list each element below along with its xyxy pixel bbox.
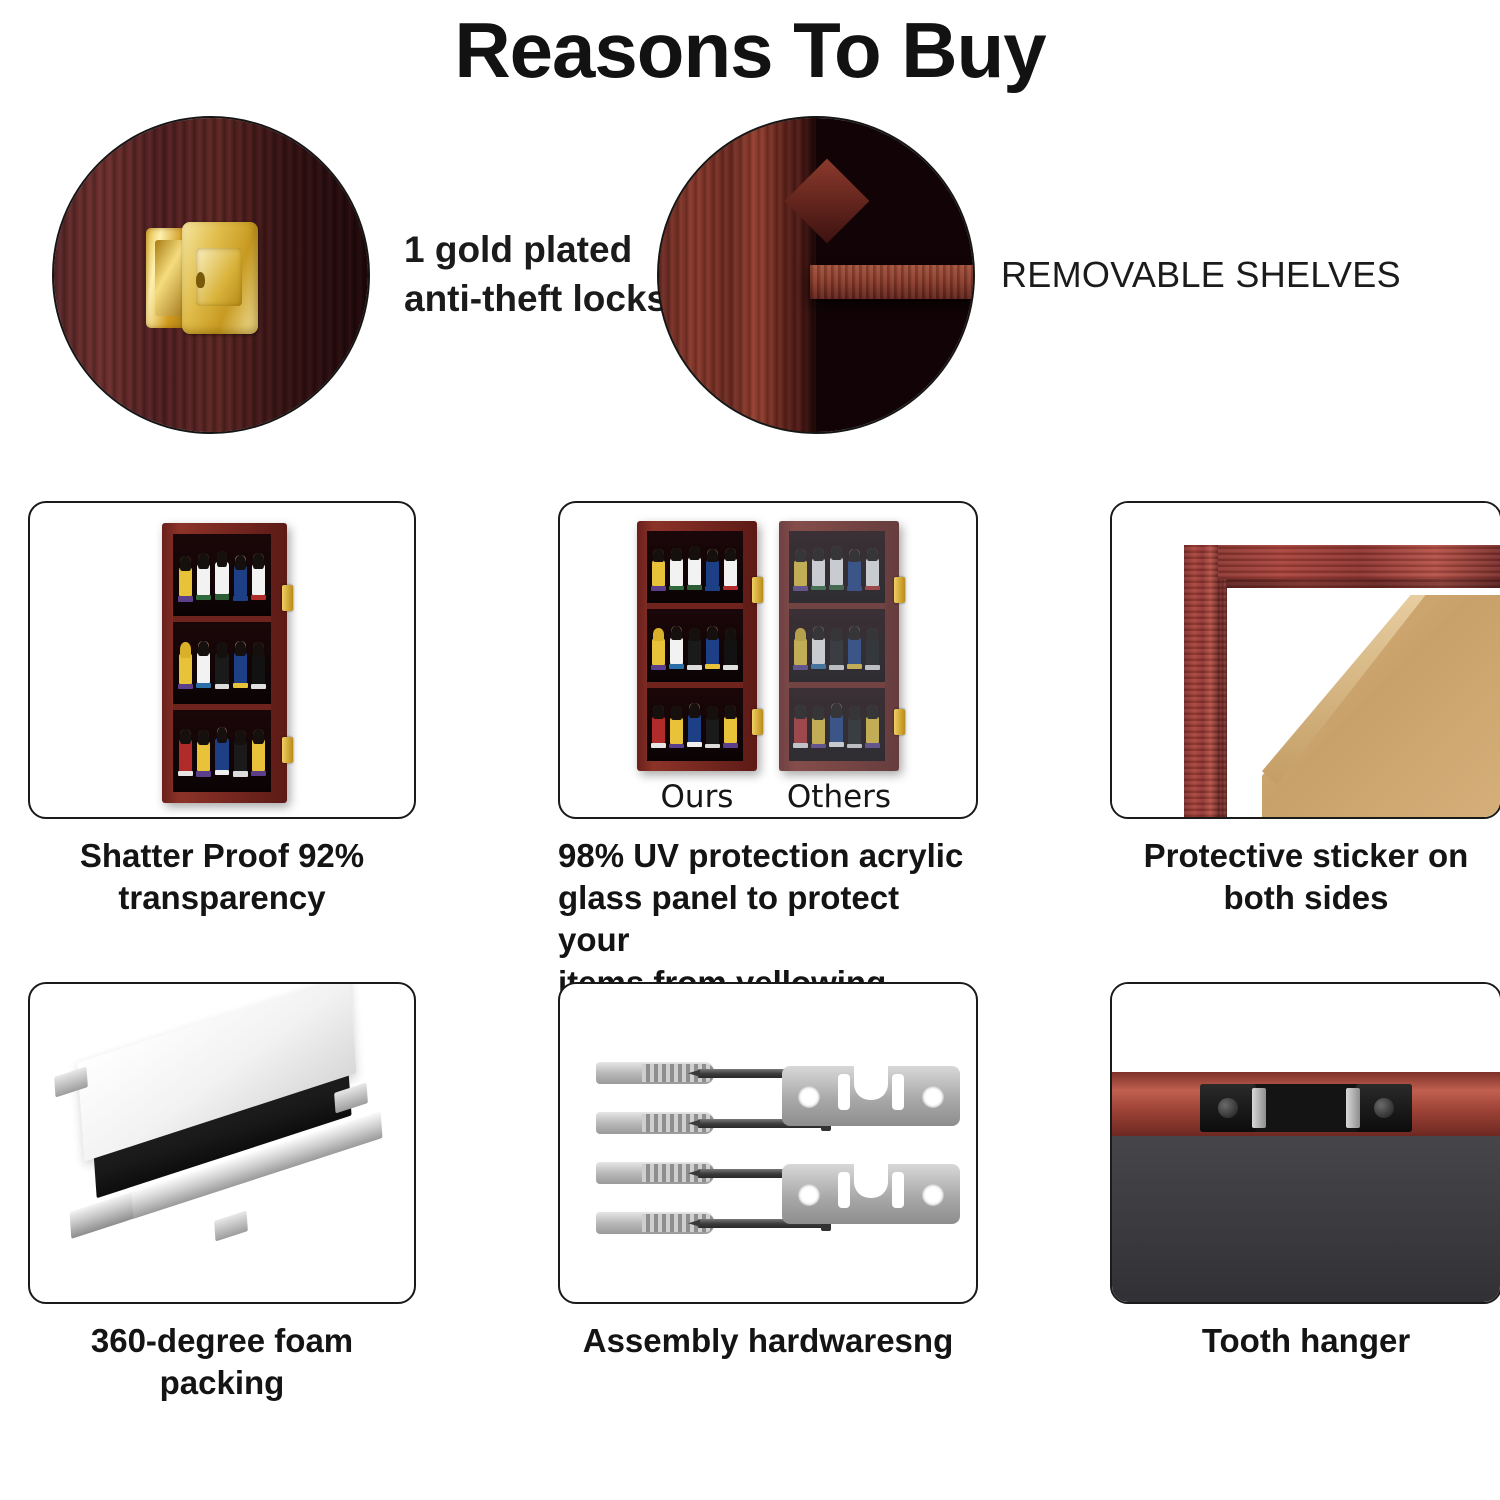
- figurine: [215, 551, 230, 613]
- shelf-joint-icon: [657, 116, 975, 434]
- card-uv-protection: Ours: [558, 501, 978, 1004]
- card-protective-sticker: Protective sticker on both sides: [1110, 501, 1500, 919]
- figurine-hair: [217, 727, 228, 743]
- figurine: [251, 553, 266, 613]
- case-interior: [647, 531, 743, 761]
- figurine-hair: [235, 555, 246, 570]
- figurine: [196, 730, 211, 788]
- hanger-end-plate: [1356, 1084, 1412, 1132]
- case-shelf: [173, 710, 271, 792]
- gold-latch-hardware: [146, 222, 258, 334]
- figurine-hair: [253, 642, 264, 657]
- figurine: [233, 641, 248, 701]
- figurine-base: [233, 596, 248, 601]
- bracket-slot: [838, 1074, 850, 1110]
- figurine-head: [198, 641, 209, 652]
- label-ours: Ours: [661, 779, 734, 815]
- frame-corner-with-kraft-sticker: [1112, 503, 1500, 817]
- figurine-head: [180, 642, 191, 653]
- card-foam-packing: 360-degree foam packing: [28, 982, 416, 1404]
- card-caption-uv-protection: 98% UV protection acrylic glass panel to…: [558, 835, 978, 1004]
- circle-feature-row: 1 gold plated anti-theft locks REMOVABLE…: [0, 116, 1500, 476]
- case-shelf: [647, 688, 743, 761]
- comparison-ours: Ours: [637, 521, 757, 815]
- figurine-head: [198, 553, 209, 564]
- figurine-head: [235, 730, 246, 741]
- figurine-base: [215, 594, 230, 600]
- hanger-clip: [1252, 1088, 1266, 1128]
- figurine-hair: [180, 729, 191, 745]
- cabinet-hinge: [282, 585, 293, 611]
- figurine-hair: [217, 642, 228, 657]
- page-title: Reasons To Buy: [0, 0, 1500, 94]
- screw-head-icon: [1374, 1098, 1394, 1118]
- gold-latch-icon: [52, 116, 370, 434]
- hanger-clip: [1346, 1088, 1360, 1128]
- gold-lock-caption: 1 gold plated anti-theft locks: [404, 226, 667, 324]
- figurine: [251, 729, 266, 789]
- figurine-base: [178, 771, 193, 776]
- case-shelf: [789, 531, 885, 610]
- card-shatter-proof: Shatter Proof 92% transparency: [28, 501, 416, 919]
- figurine-jersey: [234, 741, 247, 771]
- figurine-hair: [217, 551, 228, 567]
- cabinet-hinge: [752, 709, 763, 735]
- figurine: [215, 727, 230, 789]
- comparison-cases: Ours: [560, 521, 976, 815]
- kraft-protective-sticker: [1262, 595, 1500, 817]
- figurine-head: [235, 641, 246, 652]
- figurine-base: [178, 596, 193, 601]
- feature-gold-lock: 1 gold plated anti-theft locks: [52, 116, 667, 434]
- frame-stile: [659, 118, 816, 432]
- frame-inner-lip-left: [1218, 579, 1227, 817]
- card-frame: [28, 501, 416, 819]
- figurine-jersey: [252, 653, 265, 683]
- figurine-hair: [253, 729, 264, 745]
- figurine-jersey: [179, 653, 192, 683]
- card-assembly-hardware: Assembly hardwaresng: [558, 982, 978, 1362]
- hanger-teeth: [1270, 1116, 1342, 1130]
- figurine-base: [215, 770, 230, 776]
- latch-body: [182, 222, 258, 334]
- display-case-front: [162, 523, 287, 803]
- keyhole-icon: [196, 272, 205, 288]
- display-case: [162, 523, 287, 803]
- figurine-base: [251, 684, 266, 689]
- bracket-notch: [854, 1066, 888, 1100]
- feature-card-row-2: 360-degree foam packing: [0, 982, 1500, 1402]
- figurine: [178, 642, 193, 700]
- card-caption-tooth-hanger: Tooth hanger: [1110, 1320, 1500, 1362]
- cabinet-hinge: [282, 737, 293, 763]
- card-frame: [1110, 501, 1500, 819]
- figurine-base: [196, 595, 211, 600]
- figurine-base: [251, 771, 266, 776]
- case-shelf: [173, 534, 271, 622]
- case-shelf: [647, 531, 743, 610]
- case-shelf: [789, 609, 885, 688]
- stacked-foam-layers: [30, 984, 414, 1302]
- cabinet-hinge: [752, 577, 763, 603]
- figurine-base: [251, 595, 266, 600]
- figurine-jersey: [215, 653, 228, 683]
- sawtooth-hanger-on-back-panel: [1112, 984, 1500, 1302]
- screw-head-icon: [1218, 1098, 1238, 1118]
- card-caption-shatter-proof: Shatter Proof 92% transparency: [28, 835, 416, 919]
- feature-removable-shelves: REMOVABLE SHELVES: [657, 116, 1401, 434]
- card-frame: Ours: [558, 501, 978, 819]
- figurine-jersey: [234, 652, 247, 683]
- display-case-others: [779, 521, 899, 771]
- display-case-ours: [637, 521, 757, 771]
- card-frame: [28, 982, 416, 1304]
- case-shelf: [647, 609, 743, 688]
- case-interior: [173, 534, 271, 792]
- figurine-jersey: [197, 652, 210, 683]
- figurine-head: [235, 555, 246, 566]
- label-others: Others: [787, 779, 891, 815]
- bracket-slot: [892, 1074, 904, 1110]
- card-caption-foam-packing: 360-degree foam packing: [28, 1320, 416, 1404]
- figurine-head: [198, 730, 209, 741]
- figurine: [196, 641, 211, 701]
- figurine-head: [217, 551, 228, 562]
- figurine-hair: [180, 642, 191, 657]
- figurine-head: [253, 729, 264, 740]
- figurine-head: [217, 642, 228, 653]
- case-interior: [789, 531, 885, 761]
- figurine-hair: [198, 641, 209, 657]
- comparison-others: Others: [779, 521, 899, 815]
- card-caption-assembly-hardware: Assembly hardwaresng: [558, 1320, 978, 1362]
- figurine: [196, 553, 211, 613]
- bracket-hole: [922, 1086, 944, 1108]
- figurine-hair: [198, 730, 209, 745]
- bracket-slot: [892, 1172, 904, 1208]
- figurine-jersey: [197, 741, 210, 771]
- mounting-bracket: [782, 1066, 960, 1126]
- figurine: [178, 729, 193, 789]
- removable-shelf-board: [810, 265, 975, 299]
- frame-left-stile: [1184, 545, 1218, 817]
- card-frame: [558, 982, 978, 1304]
- back-panel: [1112, 1136, 1500, 1302]
- figurine: [215, 642, 230, 700]
- removable-shelves-caption: REMOVABLE SHELVES: [1001, 251, 1401, 299]
- hanger-end-plate: [1200, 1084, 1256, 1132]
- figurine-head: [180, 729, 191, 740]
- case-shelf: [173, 622, 271, 710]
- figurine-head: [253, 642, 264, 653]
- foam-corner-clip: [214, 1210, 248, 1241]
- figurine-base: [233, 683, 248, 688]
- cabinet-hinge: [894, 709, 905, 735]
- figurine-base: [178, 684, 193, 689]
- figurine-hair: [235, 641, 246, 657]
- figurine-base: [196, 771, 211, 776]
- figurine-head: [217, 727, 228, 738]
- figurine-base: [196, 683, 211, 688]
- figurine-hair: [235, 730, 246, 745]
- card-tooth-hanger: Tooth hanger: [1110, 982, 1500, 1362]
- bracket-hole: [922, 1184, 944, 1206]
- card-frame: [1110, 982, 1500, 1304]
- figurine-base: [215, 684, 230, 689]
- figurine-base: [233, 771, 248, 776]
- figurine: [251, 642, 266, 700]
- case-shelf: [789, 688, 885, 761]
- bracket-slot: [838, 1172, 850, 1208]
- anchors-screws-brackets: [560, 984, 976, 1302]
- figurine-hair: [198, 553, 209, 569]
- figurine-head: [180, 556, 191, 567]
- figurine-jersey: [252, 739, 265, 770]
- feature-card-row-1: Shatter Proof 92% transparency: [0, 476, 1500, 896]
- bracket-hole: [798, 1184, 820, 1206]
- figurine-jersey: [179, 739, 192, 770]
- frame-top-rail: [1184, 545, 1500, 579]
- figurine-jersey: [234, 565, 247, 595]
- figurine-head: [253, 553, 264, 564]
- card-caption-protective-sticker: Protective sticker on both sides: [1110, 835, 1500, 919]
- figurine: [178, 556, 193, 613]
- figurine: [233, 730, 248, 788]
- bracket-notch: [854, 1164, 888, 1198]
- figurine-hair: [253, 553, 264, 569]
- frame-inner-lip-top: [1218, 579, 1500, 588]
- mounting-bracket: [782, 1164, 960, 1224]
- figurine: [233, 555, 248, 613]
- figurine-jersey: [179, 567, 192, 597]
- cabinet-hinge: [894, 577, 905, 603]
- figurine-hair: [180, 556, 191, 571]
- bracket-hole: [798, 1086, 820, 1108]
- sawtooth-hanger: [1200, 1084, 1412, 1132]
